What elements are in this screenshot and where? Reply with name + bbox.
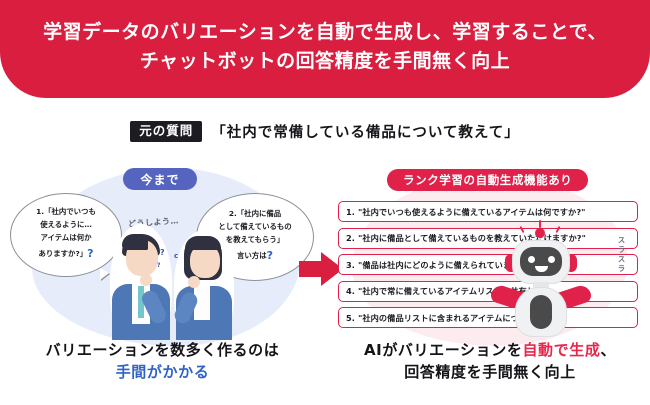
list-item[interactable]: 5. "社内の備品リストに含まれるアイテムについて詳細を" xyxy=(338,307,638,328)
left-caption-line-1: バリエーションを数多く作るのは xyxy=(0,340,325,362)
right-caption-part-b: 自動で生成 xyxy=(522,341,600,359)
right-caption-line-1: AIがバリエーションを自動で生成、 xyxy=(330,340,650,362)
header-banner: 学習データのバリエーションを自動で生成し、学習することで、 チャットボットの回答… xyxy=(0,0,650,98)
header-line-2: チャットボットの回答精度を手間無く向上 xyxy=(140,47,510,76)
speech-bubble-left: 1.「社内でいつも 使えるように… アイテムは何か ありますか?」? xyxy=(10,193,122,277)
person-woman-illustration: c xyxy=(172,228,236,340)
bubble-left-line-4: ありますか?」? xyxy=(38,245,93,264)
person-man-illustration: ? ? xyxy=(108,222,174,340)
ai-generation-panel: ランク学習の自動生成機能あり 1. "社内でいつも使えるように備えているアイテム… xyxy=(330,160,650,405)
right-caption-line-2: 回答精度を手間無く向上 xyxy=(330,362,650,384)
right-caption-part-c: 、 xyxy=(600,341,616,359)
think-dot-2: ? xyxy=(157,262,160,269)
bubble-left-line-2: 使えるように… xyxy=(40,219,92,232)
original-question-text: 「社内で常備している備品について教えて」 xyxy=(211,121,519,142)
rank-learning-label-pill: ランク学習の自動生成機能あり xyxy=(387,169,588,191)
right-caption-part-a: AIがバリエーションを xyxy=(364,341,523,359)
bubble-right-line-1: 2.「社内に備品 xyxy=(229,208,281,221)
robot-antenna-icon xyxy=(535,228,545,238)
question-mark-icon: ? xyxy=(87,247,93,260)
bubble-right-line-4-text: 言い方は xyxy=(237,251,267,260)
bubble-left-line-3: アイテムは何か xyxy=(41,232,92,245)
original-question-row: 元の質問 「社内で常備している備品について教えて」 xyxy=(0,121,650,142)
sparkle-icon xyxy=(539,220,541,228)
list-item[interactable]: 4. "社内で常に備えているアイテムリストを共有し、" xyxy=(338,281,638,302)
think-dot-3: c xyxy=(174,252,178,260)
ai-robot-icon xyxy=(495,232,591,340)
left-caption-line-2: 手間がかかる xyxy=(0,362,325,384)
past-label-pill: 今まで xyxy=(123,168,197,190)
bubble-right-line-4: 言い方は? xyxy=(237,247,273,266)
bubble-left-line-4-text: ありますか?」 xyxy=(38,249,87,258)
question-mark-icon-2: ? xyxy=(267,249,273,262)
bubble-left-line-1: 1.「社内でいつも xyxy=(36,206,96,219)
think-dot-1: ? xyxy=(160,248,165,257)
list-item[interactable]: 1. "社内でいつも使えるように備えているアイテムは何ですか?" xyxy=(338,201,638,222)
list-item[interactable]: 3. "備品は社内にどのように備えられていますか?" xyxy=(338,254,638,275)
list-item-text: 1. "社内でいつも使えるように備えているアイテムは何ですか?" xyxy=(346,206,586,218)
original-question-badge: 元の質問 xyxy=(130,121,202,142)
robot-sfx-text: スラスラ xyxy=(616,236,627,274)
past-method-panel: 今まで 1.「社内でいつも 使えるように… アイテムは何か ありますか?」? 2… xyxy=(0,160,325,405)
left-caption: バリエーションを数多く作るのは 手間がかかる xyxy=(0,340,325,384)
header-line-1: 学習データのバリエーションを自動で生成し、学習することで、 xyxy=(43,18,607,47)
right-caption: AIがバリエーションを自動で生成、 回答精度を手間無く向上 xyxy=(330,340,650,384)
infographic-canvas: 学習データのバリエーションを自動で生成し、学習することで、 チャットボットの回答… xyxy=(0,0,650,405)
list-item[interactable]: 2. "社内に備品として備えているものを教えていただけますか?" xyxy=(338,228,638,249)
generated-question-list: 1. "社内でいつも使えるように備えているアイテムは何ですか?" 2. "社内に… xyxy=(338,201,638,334)
